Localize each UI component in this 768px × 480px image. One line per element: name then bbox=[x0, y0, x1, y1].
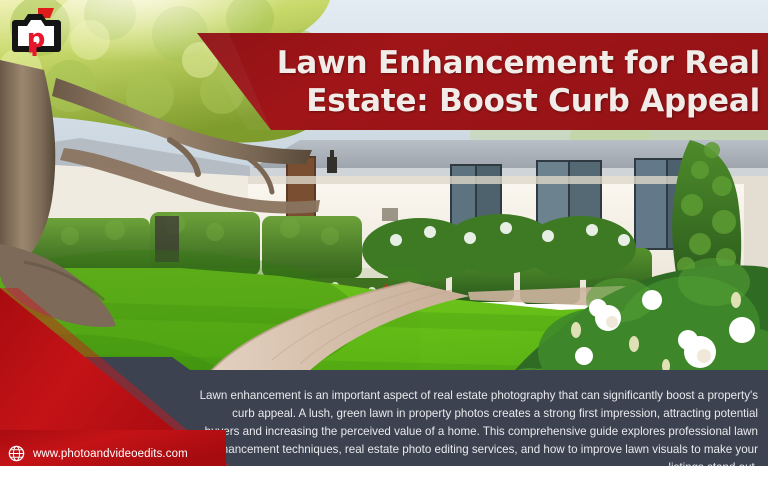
website-row[interactable]: www.photoandvideoedits.com bbox=[8, 445, 188, 462]
footer-wedge: www.photoandvideoedits.com bbox=[0, 280, 470, 480]
brand-logo[interactable]: p bbox=[8, 6, 68, 58]
website-url[interactable]: www.photoandvideoedits.com bbox=[33, 448, 188, 460]
globe-icon bbox=[8, 445, 25, 462]
camera-p-logo-icon: p bbox=[8, 6, 68, 58]
poster-canvas: Lawn Enhancement for Real Estate: Boost … bbox=[0, 0, 768, 480]
bottom-strip bbox=[0, 466, 768, 480]
